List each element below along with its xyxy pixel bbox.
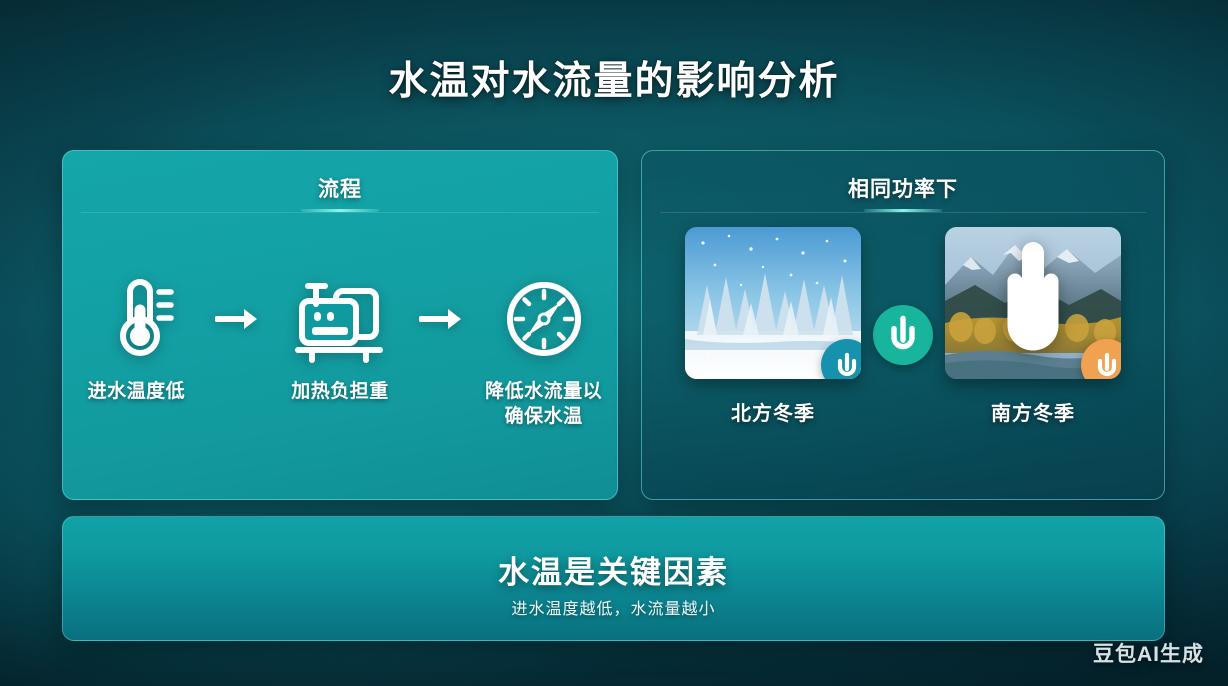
conclusion-subtitle: 进水温度越低，水流量越小 (63, 595, 1164, 619)
water-flow-icon (885, 315, 921, 355)
comparison-panel: 相同功率下 (641, 150, 1165, 500)
comparison-item-north-label: 北方冬季 (679, 397, 867, 426)
winter-snow-forest-photo (685, 227, 861, 379)
gauge-icon (470, 271, 617, 367)
slide-canvas: 水温对水流量的影响分析 流程 (0, 0, 1228, 686)
comparison-panel-underline (864, 209, 942, 212)
arrow-right-icon (413, 271, 470, 367)
flow-step-1-label: 进水温度低 (63, 379, 210, 404)
flow-step-3[interactable]: 降低水流量以 确保水温 (470, 271, 617, 429)
thermometer-icon (63, 271, 210, 367)
water-heater-icon (267, 271, 414, 367)
flow-step-3-label: 降低水流量以 确保水温 (470, 379, 617, 429)
flow-step-2-label: 加热负担重 (267, 379, 414, 404)
water-flow-icon (833, 350, 861, 379)
flow-step-2[interactable]: 加热负担重 (267, 271, 414, 404)
process-flow-row: 进水温度低 (63, 271, 617, 429)
page-title: 水温对水流量的影响分析 (0, 50, 1228, 106)
conclusion-heading: 水温是关键因素 (63, 547, 1164, 592)
flow-step-1[interactable]: 进水温度低 (63, 271, 210, 404)
comparison-item-south[interactable]: 南方冬季 (939, 227, 1127, 426)
comparison-panel-divider (660, 212, 1146, 213)
comparison-item-north[interactable]: 北方冬季 (679, 227, 867, 426)
process-panel-divider (81, 212, 599, 213)
process-panel: 流程 (62, 150, 618, 500)
comparison-row: 北方冬季 (642, 227, 1164, 426)
comparison-item-south-label: 南方冬季 (939, 397, 1127, 426)
autumn-mountain-river-photo (945, 227, 1121, 379)
comparison-panel-title: 相同功率下 (642, 173, 1164, 203)
process-panel-title: 流程 (63, 173, 617, 203)
watermark-label: 豆包AI生成 (1093, 638, 1204, 668)
water-flow-icon (1093, 350, 1121, 379)
process-panel-underline (301, 209, 379, 212)
water-flow-badge-middle[interactable] (873, 305, 933, 365)
conclusion-panel: 水温是关键因素 进水温度越低，水流量越小 (62, 516, 1165, 641)
middle-flow-indicator (867, 227, 939, 379)
water-flow-icon-large (997, 239, 1069, 362)
arrow-right-icon (210, 271, 267, 367)
